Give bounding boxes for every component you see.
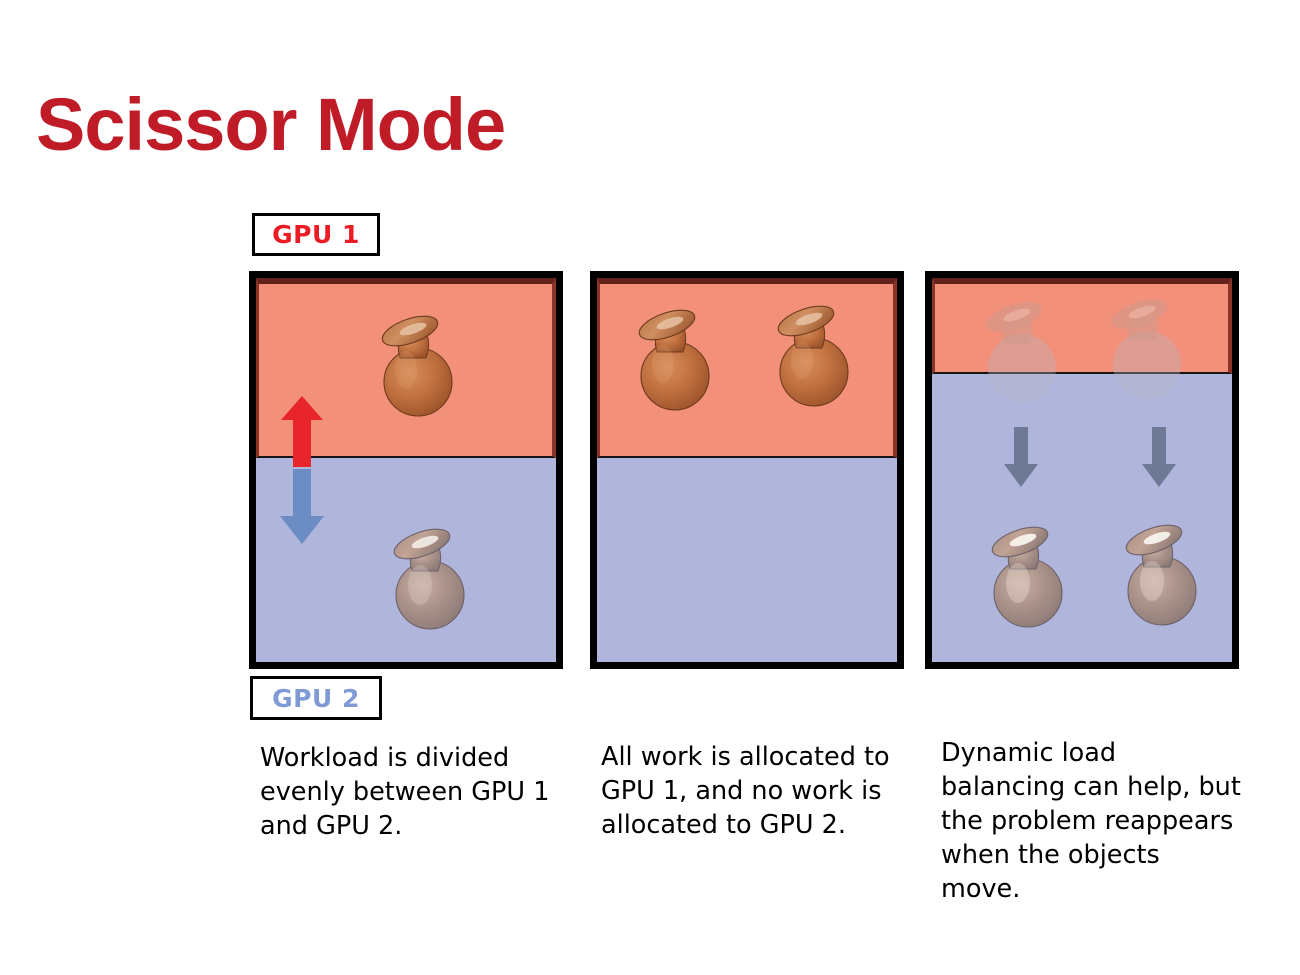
panel-all-work-gpu1-canvas	[597, 278, 897, 662]
caption-even-split: Workload is divided evenly between GPU 1…	[260, 742, 560, 844]
arrow-down-blue	[277, 468, 327, 546]
object-vase-faded	[976, 519, 1072, 631]
legend-gpu1-label: GPU 1	[272, 220, 360, 249]
page-title: Scissor Mode	[36, 88, 505, 162]
legend-gpu2-box: GPU 2	[250, 676, 382, 720]
object-vase-solid	[366, 308, 462, 420]
caption-dynamic-load-balancing: Dynamic load balancing can help, but the…	[941, 737, 1241, 907]
panel-even-split-canvas	[256, 278, 556, 662]
legend-gpu1-box: GPU 1	[252, 213, 380, 256]
object-vase-faded	[378, 521, 474, 633]
panel-dynamic-load-balancing-canvas	[932, 278, 1232, 662]
object-vase-ghost	[1095, 291, 1191, 403]
panel-all-work-gpu1	[590, 271, 904, 669]
arrow-down-gray	[1002, 426, 1040, 488]
panel-even-split	[249, 271, 563, 669]
arrow-up-red	[279, 394, 325, 467]
region-gpu2-all-work	[597, 458, 897, 662]
object-vase-ghost	[970, 294, 1066, 406]
legend-gpu2-label: GPU 2	[272, 684, 360, 713]
panel-dynamic-load-balancing	[925, 271, 1239, 669]
caption-all-work-gpu1: All work is allocated to GPU 1, and no w…	[601, 741, 901, 843]
object-vase-solid	[762, 298, 858, 410]
object-vase-solid	[623, 302, 719, 414]
arrow-down-gray	[1140, 426, 1178, 488]
object-vase-faded	[1110, 517, 1206, 629]
